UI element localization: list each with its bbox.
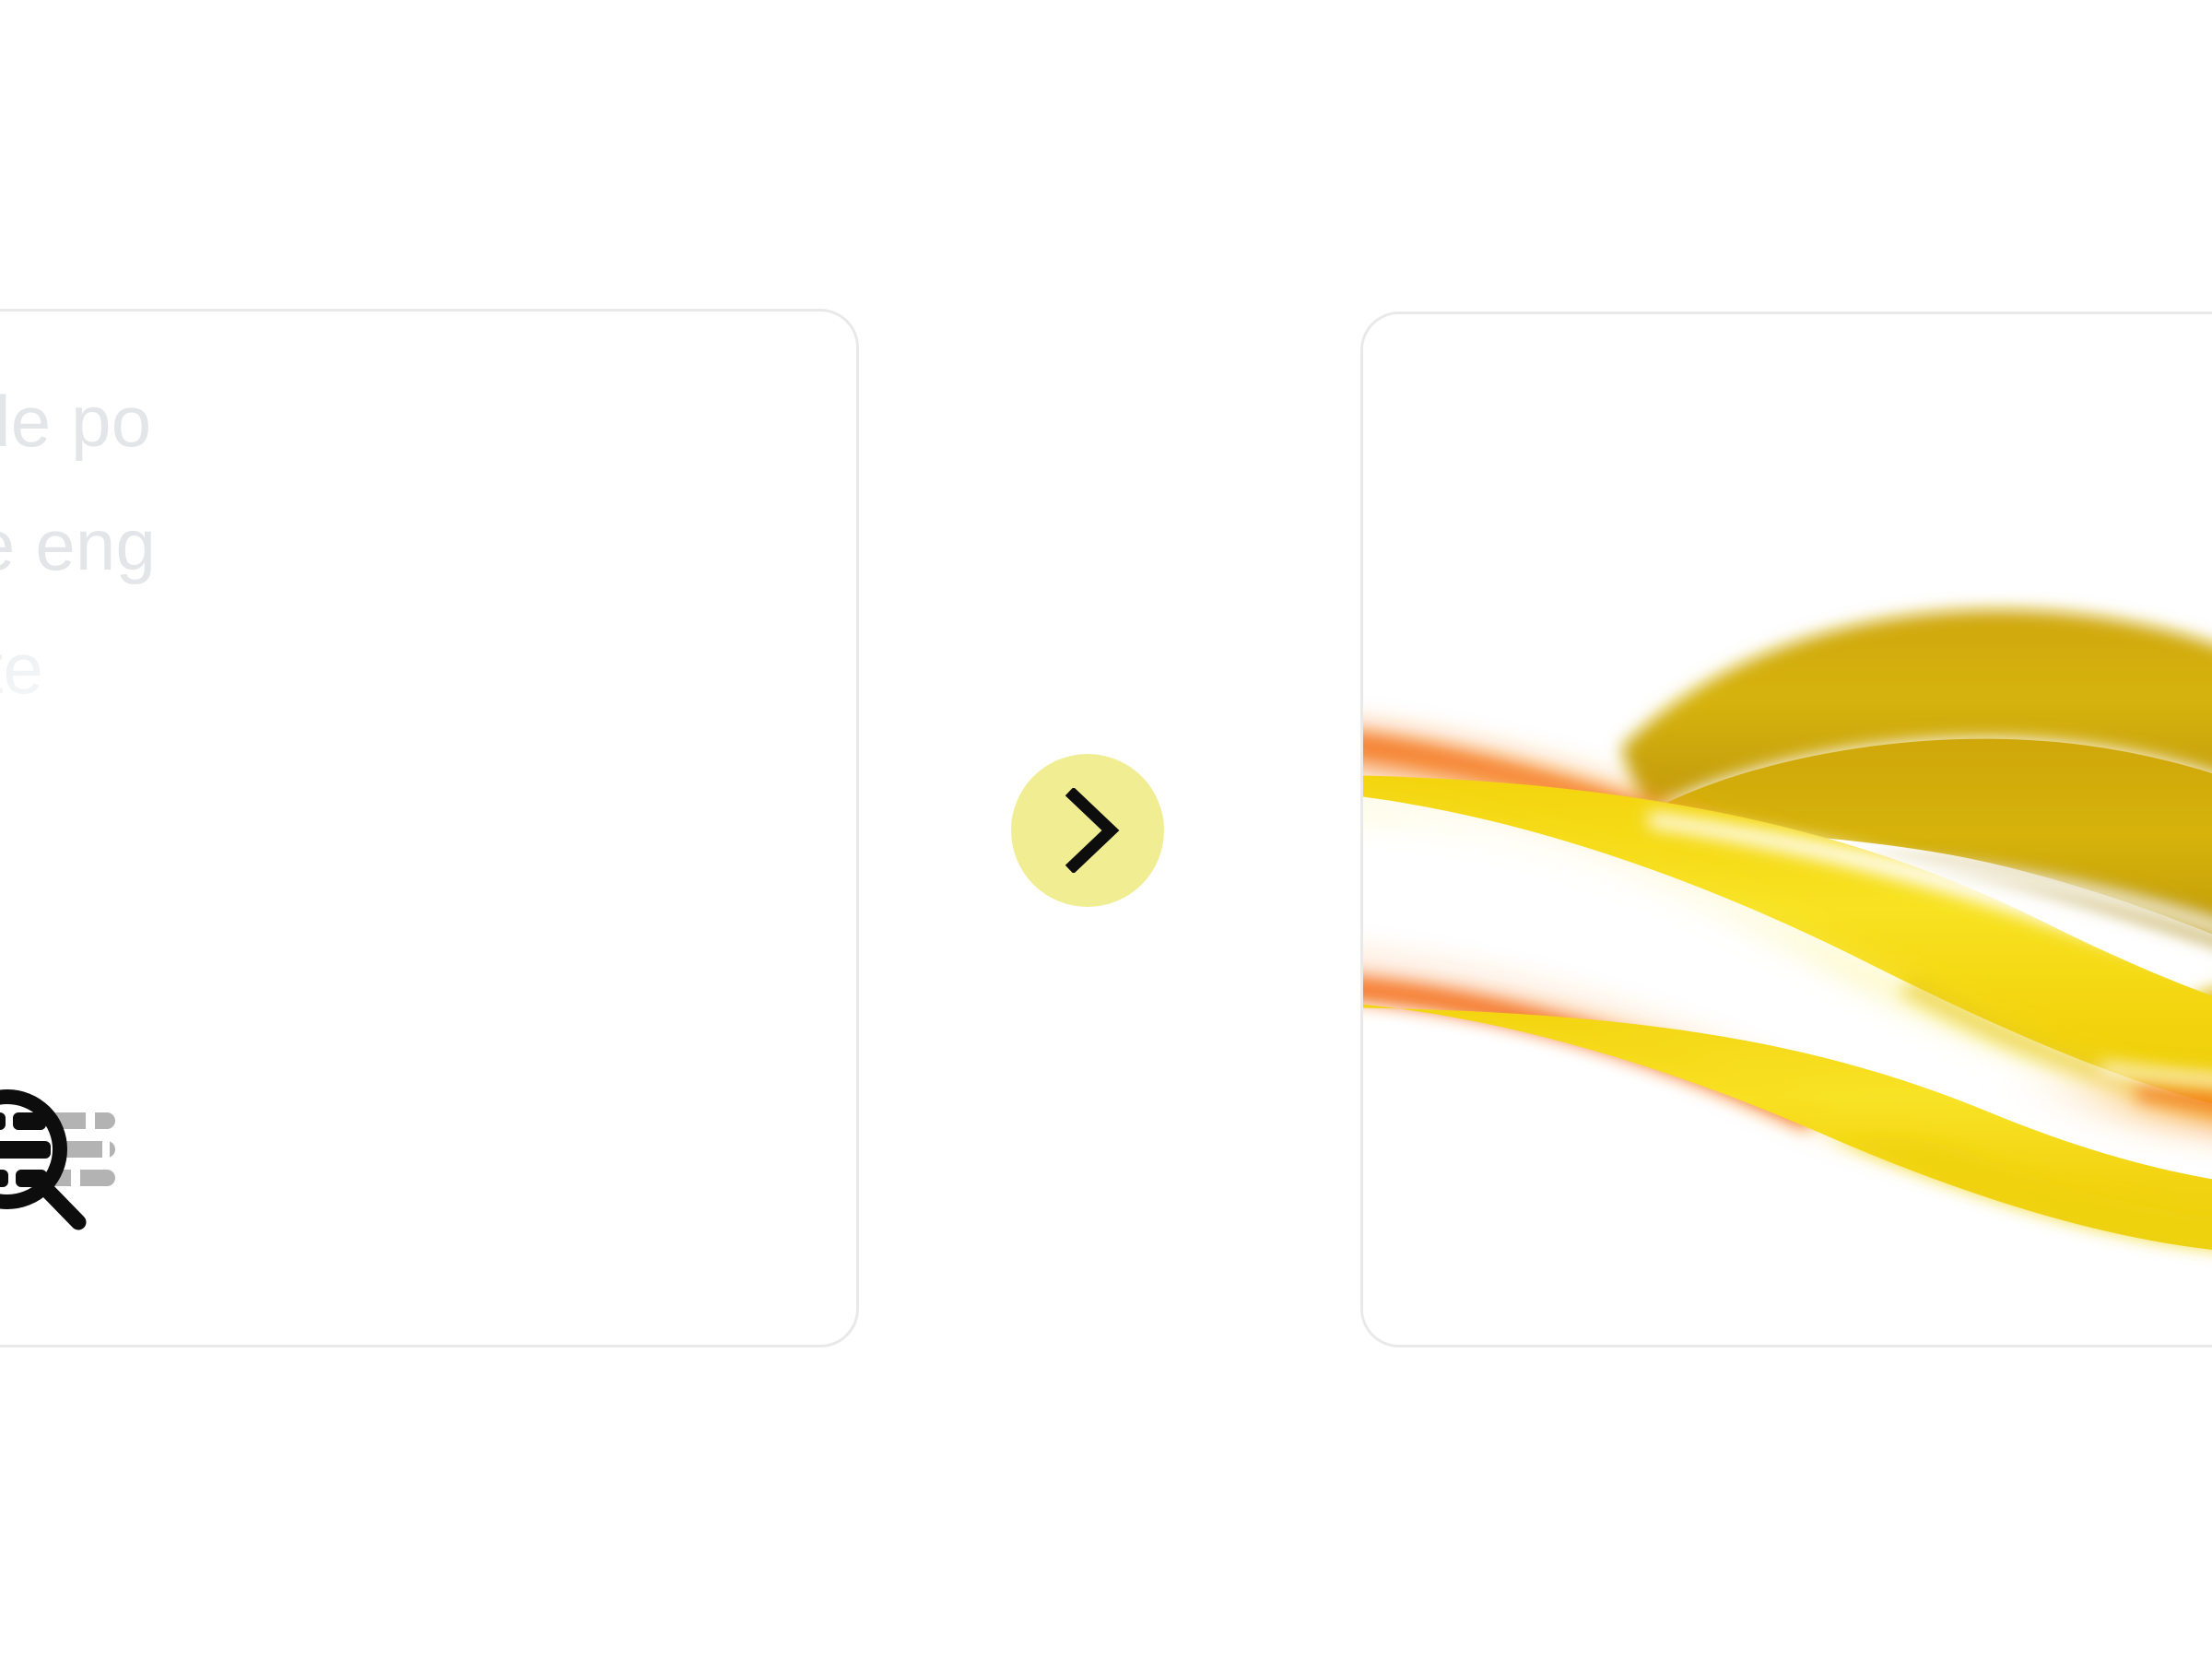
- document-search-icon: [0, 1048, 117, 1232]
- abstract-yellow-wave-graphic: [1360, 314, 2212, 1345]
- preview-text-line: ess. No n you: [0, 730, 859, 853]
- chevron-right-icon: [1052, 788, 1124, 873]
- preview-text-line: nce soft ecosyste: [0, 606, 859, 730]
- carousel-slide-text-preview[interactable]: source was made po anies to improve eng …: [0, 309, 859, 1347]
- preview-text-line: anies to improve eng: [0, 483, 859, 606]
- carousel-stage: source was made po anies to improve eng …: [0, 0, 2212, 1659]
- carousel-next-button[interactable]: [1011, 754, 1164, 907]
- preview-text-line: source was made po: [0, 359, 859, 483]
- carousel-slide-image-preview[interactable]: [1360, 312, 2212, 1347]
- preview-text-line: reliable are cost: [0, 853, 859, 977]
